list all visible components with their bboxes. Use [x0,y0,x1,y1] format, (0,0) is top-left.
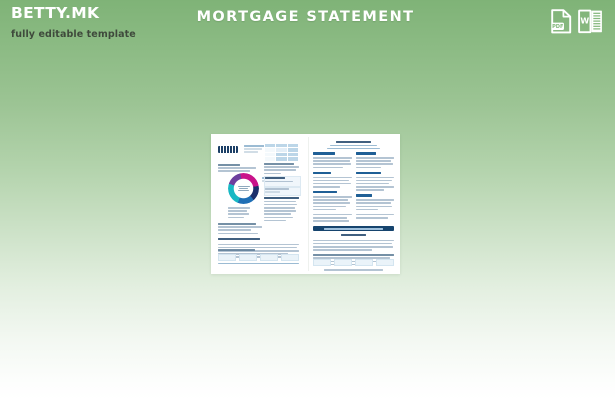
disclosure-column-right [356,152,395,223]
payment-coupon [218,249,299,266]
late-fee-values [265,188,298,194]
coupon-cell [239,254,257,261]
page-title: MORTGAGE STATEMENT [0,9,615,25]
document-preview[interactable] [211,134,400,274]
footer-cell [334,259,352,266]
page2-title [313,141,394,149]
file-format-icons: PDF W [551,9,603,34]
company-logo-icon [218,146,238,153]
section-banner [313,226,394,231]
chart-center-label [228,173,259,204]
past-payment-breakdown [218,223,264,236]
page-title-text: MORTGAGE STATEMENT [197,9,415,25]
footer-cell [376,259,394,266]
coupon-cell [218,254,236,261]
svg-text:PDF: PDF [552,24,564,30]
footer-cell [355,259,373,266]
total-due-values [265,177,298,184]
page-header: BETTY.MK fully editable template MORTGAG… [0,0,615,56]
brand-tagline: fully editable template [11,29,136,40]
disclosure-columns [313,152,394,223]
chart-legend [228,207,260,220]
pdf-icon[interactable]: PDF [551,9,572,34]
preview-page-1[interactable] [214,137,303,271]
coupon-cell [260,254,278,261]
address-block [218,164,258,172]
account-summary-table [264,143,299,162]
disclosure-column-left [313,152,352,223]
word-icon[interactable]: W [578,9,603,34]
svg-text:W: W [580,17,589,26]
footer-cell [313,259,331,266]
preview-page-2[interactable] [308,137,398,271]
coupon-cell [281,254,299,261]
page2-footer-row [313,256,394,266]
transaction-table [264,197,299,223]
amount-due-block [264,163,299,176]
